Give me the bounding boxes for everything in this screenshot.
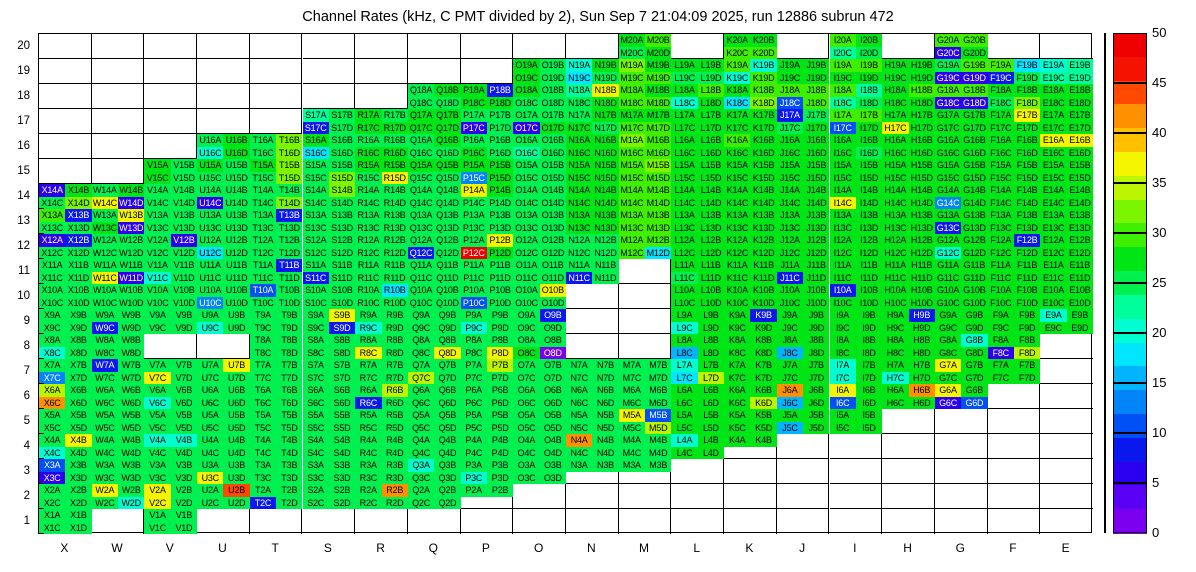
channel-subcell: T12A [250, 234, 276, 247]
heatmap-cell: U5AU5BU5CU5D [197, 409, 250, 434]
channel-subcell: L4B [698, 434, 724, 447]
heatmap-cell: J11AJ11BJ11CJ11D [777, 259, 830, 284]
channel-subcell: K6C [724, 397, 750, 410]
channel-subcell: G20C [935, 47, 961, 60]
heatmap-cell: N14AN14BN14CN14D [566, 184, 619, 209]
channel-subcell: M5B [645, 409, 671, 422]
channel-subcell: I18A [830, 84, 856, 97]
channel-subcell: K13A [724, 209, 750, 222]
heatmap-cell: Q12AQ12BQ12CQ12D [408, 234, 461, 259]
heatmap-cell: U12AU12BU12CU12D [197, 234, 250, 259]
heatmap-cell: L11AL11BL11CL11D [671, 259, 724, 284]
channel-subcell: R10B [382, 284, 408, 297]
channel-subcell: H7B [909, 359, 935, 372]
channel-subcell: O12A [513, 234, 539, 247]
channel-subcell: Q11C [408, 272, 434, 285]
channel-subcell: K9A [724, 309, 750, 322]
channel-subcell: V7A [144, 359, 170, 372]
heatmap-cell: T7AT7BT7CT7D [250, 359, 303, 384]
heatmap-cell [303, 59, 356, 84]
channel-subcell: E9C [1040, 322, 1066, 335]
channel-subcell: R6D [382, 397, 408, 410]
heatmap-cell: J17AJ17BJ17CJ17D [777, 109, 830, 134]
channel-subcell: I11C [830, 272, 856, 285]
heatmap-cell: F10AF10BF10CF10D [988, 284, 1041, 309]
channel-subcell: W11B [118, 259, 144, 272]
x-axis-tick-label: E [1039, 541, 1092, 555]
heatmap-cell: M5AM5BM5CM5D [619, 409, 672, 434]
channel-subcell: J17D [803, 122, 829, 135]
channel-subcell: R14B [382, 184, 408, 197]
channel-subcell: N11B [592, 259, 618, 272]
heatmap-cell: M19AM19BM19CM19D [619, 59, 672, 84]
channel-subcell: E16B [1067, 134, 1093, 147]
channel-subcell: S8A [303, 334, 329, 347]
channel-subcell: P16A [461, 134, 487, 147]
channel-subcell: P10D [487, 297, 513, 310]
channel-subcell: Q15C [408, 172, 434, 185]
channel-subcell: O4B [540, 434, 566, 447]
channel-subcell: I8D [856, 347, 882, 360]
channel-subcell: W9B [118, 309, 144, 322]
heatmap-cell: K16AK16BK16CK16D [724, 134, 777, 159]
channel-subcell: T10B [276, 284, 302, 297]
channel-subcell: G13C [935, 222, 961, 235]
channel-subcell: S10A [303, 284, 329, 297]
channel-subcell: Q14D [434, 197, 460, 210]
channel-subcell: P15D [487, 172, 513, 185]
channel-subcell: E13D [1067, 222, 1093, 235]
channel-subcell: J19D [803, 72, 829, 85]
channel-subcell: H19C [882, 72, 908, 85]
heatmap-cell [935, 434, 988, 459]
channel-subcell: V11C [144, 272, 170, 285]
channel-subcell: X7A [39, 359, 65, 372]
channel-subcell: K19A [724, 59, 750, 72]
channel-subcell: L6D [698, 397, 724, 410]
y-axis-tick-label: 17 [0, 115, 30, 127]
heatmap-cell [724, 459, 777, 484]
heatmap-cell: L15AL15BL15CL15D [671, 159, 724, 184]
channel-subcell: J10B [803, 284, 829, 297]
channel-subcell: P7B [487, 359, 513, 372]
channel-subcell: R15B [382, 159, 408, 172]
channel-subcell: Q13A [408, 209, 434, 222]
channel-subcell: E16D [1067, 147, 1093, 160]
channel-subcell: U13D [223, 222, 249, 235]
channel-subcell: G15B [961, 159, 987, 172]
heatmap-cell: Q16AQ16BQ16CQ16D [408, 134, 461, 159]
channel-subcell: M4D [645, 447, 671, 460]
heatmap-cell: F15AF15BF15CF15D [988, 159, 1041, 184]
channel-subcell: S8D [329, 347, 355, 360]
colorbar-tick-mark [1113, 232, 1147, 234]
y-axis-tick-label: 16 [0, 140, 30, 152]
channel-subcell: H14D [909, 197, 935, 210]
channel-subcell: F16D [1014, 147, 1040, 160]
heatmap-cell [197, 59, 250, 84]
channel-subcell: T8C [250, 347, 276, 360]
channel-subcell: K8B [750, 334, 776, 347]
channel-subcell: R9C [355, 322, 381, 335]
channel-subcell: O13B [540, 209, 566, 222]
channel-subcell: W12C [92, 247, 118, 260]
channel-subcell: H7C [882, 372, 908, 385]
y-axis-tick-label: 7 [0, 365, 30, 377]
channel-subcell: V6D [171, 397, 197, 410]
heatmap-cell [355, 84, 408, 109]
channel-subcell: P18B [487, 84, 513, 97]
channel-subcell: K10C [724, 297, 750, 310]
channel-subcell: L11C [671, 272, 697, 285]
heatmap-cell: O19AO19BO19CO19D [513, 59, 566, 84]
channel-subcell: Q5A [408, 409, 434, 422]
channel-subcell: K19C [724, 72, 750, 85]
channel-subcell: M12A [619, 234, 645, 247]
channel-subcell: V9C [144, 322, 170, 335]
channel-subcell: H6D [909, 397, 935, 410]
heatmap-cell: F7AF7BF7CF7D [988, 359, 1041, 384]
channel-subcell: O16C [513, 147, 539, 160]
channel-subcell: O5C [513, 422, 539, 435]
heatmap-cell: J16AJ16BJ16CJ16D [777, 134, 830, 159]
heatmap-cell: X12AX12BX12CX12D [39, 234, 92, 259]
channel-subcell: O18A [513, 84, 539, 97]
heatmap-grid: M20AM20BM20CM20DK20AK20BK20CK20DI20AI20B… [39, 34, 1091, 532]
channel-subcell: N6D [592, 397, 618, 410]
channel-subcell: G18D [961, 97, 987, 110]
channel-subcell: P13C [461, 222, 487, 235]
channel-subcell: G17C [935, 122, 961, 135]
channel-subcell: U15B [223, 159, 249, 172]
heatmap-cell [1040, 359, 1093, 384]
heatmap-cell: T4AT4BT4CT4D [250, 434, 303, 459]
channel-subcell: S6B [329, 384, 355, 397]
heatmap-cell: F18AF18BF18CF18D [988, 84, 1041, 109]
channel-subcell: U3A [197, 459, 223, 472]
heatmap-cell: V2AV2BV2CV2D [144, 484, 197, 509]
heatmap-cell: N3AN3B [566, 459, 619, 484]
channel-subcell: J7B [803, 359, 829, 372]
channel-subcell: J12A [777, 234, 803, 247]
heatmap-cell [619, 509, 672, 534]
channel-subcell: G8C [935, 347, 961, 360]
channel-subcell: O8C [513, 347, 539, 360]
channel-subcell: T6B [276, 384, 302, 397]
heatmap-cell: N11AN11BN11CN11D [566, 259, 619, 284]
channel-subcell: G13D [961, 222, 987, 235]
heatmap-cell: S16AS16BS16CS16D [303, 134, 356, 159]
channel-subcell: S13B [329, 209, 355, 222]
channel-subcell: Q3A [408, 459, 434, 472]
channel-subcell: M18D [645, 97, 671, 110]
heatmap-cell: Q4AQ4BQ4CQ4D [408, 434, 461, 459]
heatmap-cell: W6AW6BW6CW6D [92, 384, 145, 409]
channel-subcell: V13B [171, 209, 197, 222]
channel-subcell: K20A [724, 34, 750, 47]
channel-subcell: U2A [197, 484, 223, 497]
channel-subcell: V6C [144, 397, 170, 410]
channel-subcell: N14D [592, 197, 618, 210]
channel-subcell: P12D [487, 247, 513, 260]
colorbar-segment [1113, 509, 1147, 533]
channel-subcell: H18C [882, 97, 908, 110]
channel-subcell: P6B [487, 384, 513, 397]
channel-subcell: N19C [566, 72, 592, 85]
channel-subcell: K5B [750, 409, 776, 422]
channel-subcell: Q12C [408, 247, 434, 260]
channel-subcell: T10A [250, 284, 276, 297]
channel-subcell: Q11D [434, 272, 460, 285]
heatmap-cell: S5AS5BS5CS5D [303, 409, 356, 434]
channel-subcell: H15A [882, 159, 908, 172]
channel-subcell: S8B [329, 334, 355, 347]
channel-subcell: L7D [698, 372, 724, 385]
channel-subcell: E17A [1040, 109, 1066, 122]
channel-subcell: H10B [909, 284, 935, 297]
channel-subcell: G10A [935, 284, 961, 297]
channel-subcell: E16C [1040, 147, 1066, 160]
heatmap-cell [355, 34, 408, 59]
channel-subcell: G15D [961, 172, 987, 185]
channel-subcell: W5D [118, 422, 144, 435]
heatmap-cell [830, 459, 883, 484]
channel-subcell: E13B [1067, 209, 1093, 222]
channel-subcell: J5A [777, 409, 803, 422]
channel-subcell: O14B [540, 184, 566, 197]
x-axis-tick-label: U [196, 541, 249, 555]
heatmap-cell: F11AF11BF11CF11D [988, 259, 1041, 284]
channel-subcell: G9C [935, 322, 961, 335]
channel-subcell: O3C [513, 472, 539, 485]
channel-subcell: E9B [1067, 309, 1093, 322]
channel-subcell: J17A [777, 109, 803, 122]
channel-subcell: N17D [592, 122, 618, 135]
channel-subcell: O7C [513, 372, 539, 385]
y-axis-tick-label: 10 [0, 290, 30, 302]
heatmap-cell: M15AM15BM15CM15D [619, 159, 672, 184]
channel-subcell: Q9B [434, 309, 460, 322]
y-axis-tick-label: 13 [0, 215, 30, 227]
channel-subcell: N11A [566, 259, 592, 272]
channel-subcell: P3D [487, 472, 513, 485]
channel-subcell: N14B [592, 184, 618, 197]
colorbar-segment [1113, 438, 1147, 462]
channel-subcell: N5D [592, 422, 618, 435]
channel-subcell: M16C [619, 147, 645, 160]
channel-subcell: M14C [619, 197, 645, 210]
channel-subcell: U5B [223, 409, 249, 422]
heatmap-cell [250, 84, 303, 109]
channel-subcell: S7B [329, 359, 355, 372]
heatmap-cell: M18AM18BM18CM18D [619, 84, 672, 109]
heatmap-cell: I17AI17BI17CI17D [830, 109, 883, 134]
heatmap-cell [513, 484, 566, 509]
heatmap-cell: U13AU13BU13CU13D [197, 209, 250, 234]
channel-subcell: V12B [171, 234, 197, 247]
channel-subcell: U3C [197, 472, 223, 485]
channel-subcell: H17B [909, 109, 935, 122]
channel-subcell: O8A [513, 334, 539, 347]
heatmap-cell: H10AH10BH10CH10D [882, 284, 935, 309]
heatmap-cell: E14AE14BE14CE14D [1040, 184, 1093, 209]
heatmap-cell [619, 284, 672, 309]
channel-subcell: W4D [118, 447, 144, 460]
channel-subcell: I10D [856, 297, 882, 310]
heatmap-cell [92, 59, 145, 84]
heatmap-cell: N15AN15BN15CN15D [566, 159, 619, 184]
heatmap-cell: N5AN5BN5CN5D [566, 409, 619, 434]
channel-subcell: H16B [909, 134, 935, 147]
heatmap-cell: R9AR9BR9CR9D [355, 309, 408, 334]
channel-subcell: J10D [803, 297, 829, 310]
heatmap-cell: O11AO11BO11CO11D [513, 259, 566, 284]
heatmap-cell [39, 84, 92, 109]
channel-subcell: Q10C [408, 297, 434, 310]
channel-subcell: X14A [39, 184, 65, 197]
channel-subcell: K7C [724, 372, 750, 385]
channel-subcell: W12B [118, 234, 144, 247]
channel-subcell: P5A [461, 409, 487, 422]
channel-subcell: I14D [856, 197, 882, 210]
channel-subcell: J10A [777, 284, 803, 297]
channel-subcell: I20A [830, 34, 856, 47]
channel-subcell: V5B [171, 409, 197, 422]
channel-subcell: Q7B [434, 359, 460, 372]
channel-subcell: I11A [830, 259, 856, 272]
channel-subcell: L9B [698, 309, 724, 322]
heatmap-cell: W12AW12BW12CW12D [92, 234, 145, 259]
channel-subcell: Q9D [434, 322, 460, 335]
channel-subcell: M20D [645, 47, 671, 60]
channel-subcell: L16B [698, 134, 724, 147]
channel-subcell: W3A [92, 459, 118, 472]
channel-subcell: W7C [92, 372, 118, 385]
channel-subcell: Q6C [408, 397, 434, 410]
channel-subcell: K17A [724, 109, 750, 122]
channel-subcell: U2D [223, 497, 249, 510]
channel-subcell: S11A [303, 259, 329, 272]
channel-subcell: U12A [197, 234, 223, 247]
channel-subcell: S15D [329, 172, 355, 185]
channel-subcell: O4A [513, 434, 539, 447]
channel-subcell: W6D [118, 397, 144, 410]
channel-subcell: F12D [1014, 247, 1040, 260]
channel-subcell: T9A [250, 309, 276, 322]
channel-subcell: H18D [909, 97, 935, 110]
heatmap-cell: I19AI19BI19CI19D [830, 59, 883, 84]
channel-subcell: R5D [382, 422, 408, 435]
channel-subcell: J11B [803, 259, 829, 272]
channel-subcell: M19D [645, 72, 671, 85]
channel-subcell: X3A [39, 459, 65, 472]
channel-subcell: O19A [513, 59, 539, 72]
colorbar-tick-mark [1113, 482, 1147, 484]
channel-subcell: I17A [830, 109, 856, 122]
channel-subcell: R3D [382, 472, 408, 485]
channel-subcell: T16C [250, 147, 276, 160]
channel-subcell: G18A [935, 84, 961, 97]
channel-subcell: S7A [303, 359, 329, 372]
heatmap-cell: V10AV10BV10CV10D [144, 284, 197, 309]
channel-subcell: X9B [65, 309, 91, 322]
channel-subcell: K5D [750, 422, 776, 435]
channel-subcell: O18B [540, 84, 566, 97]
channel-subcell: O10B [540, 284, 566, 297]
heatmap-cell [988, 484, 1041, 509]
channel-subcell: Q4C [408, 447, 434, 460]
channel-subcell: O3D [540, 472, 566, 485]
channel-subcell: P4D [487, 447, 513, 460]
channel-subcell: O5B [540, 409, 566, 422]
heatmap-cell: E19AE19BE19CE19D [1040, 59, 1093, 84]
channel-subcell: X8D [65, 347, 91, 360]
channel-subcell: V10B [171, 284, 197, 297]
channel-subcell: P12B [487, 234, 513, 247]
y-axis-tick-label: 11 [0, 265, 30, 277]
channel-subcell: T12D [276, 247, 302, 260]
heatmap-cell: E17AE17BE17CE17D [1040, 109, 1093, 134]
channel-subcell: G19C [935, 72, 961, 85]
channel-subcell: K11A [724, 259, 750, 272]
channel-subcell: O14A [513, 184, 539, 197]
channel-subcell: P17B [487, 109, 513, 122]
channel-subcell: T15D [276, 172, 302, 185]
heatmap-cell: F12AF12BF12CF12D [988, 234, 1041, 259]
channel-subcell: I13C [830, 222, 856, 235]
heatmap-cell: J18AJ18BJ18CJ18D [777, 84, 830, 109]
heatmap-cell [777, 34, 830, 59]
channel-subcell: O9D [540, 322, 566, 335]
channel-subcell: V4D [171, 447, 197, 460]
channel-subcell: O8D [540, 347, 566, 360]
channel-subcell: J13C [777, 222, 803, 235]
channel-subcell: O14C [513, 197, 539, 210]
heatmap-cell: V9AV9BV9CV9D [144, 309, 197, 334]
channel-subcell: P9D [487, 322, 513, 335]
heatmap-cell: K5AK5BK5CK5D [724, 409, 777, 434]
channel-subcell: W14B [118, 184, 144, 197]
channel-subcell: F11A [988, 259, 1014, 272]
channel-subcell: T15C [250, 172, 276, 185]
heatmap-cell: K6AK6BK6CK6D [724, 384, 777, 409]
heatmap-cell: F9AF9BF9CF9D [988, 309, 1041, 334]
heatmap-cell: L6AL6BL6CL6D [671, 384, 724, 409]
channel-subcell: F19D [1014, 72, 1040, 85]
channel-subcell: E14C [1040, 197, 1066, 210]
channel-subcell: T12C [250, 247, 276, 260]
channel-subcell: L9A [671, 309, 697, 322]
channel-subcell: H14C [882, 197, 908, 210]
channel-subcell: X12A [39, 234, 65, 247]
channel-subcell: Q15A [408, 159, 434, 172]
colorbar-tick-label: 40 [1152, 126, 1166, 139]
heatmap-cell: X9AX9BX9CX9D [39, 309, 92, 334]
heatmap-cell: S17AS17BS17CS17D [303, 109, 356, 134]
channel-subcell: U12C [197, 247, 223, 260]
heatmap-cell [566, 34, 619, 59]
channel-subcell: X4B [65, 434, 91, 447]
channel-subcell: X11D [65, 272, 91, 285]
channel-subcell: Q15B [434, 159, 460, 172]
channel-subcell: G10C [935, 297, 961, 310]
channel-subcell: O16B [540, 134, 566, 147]
colorbar-segment [1113, 485, 1147, 509]
heatmap-cell: F19AF19BF19CF19D [988, 59, 1041, 84]
channel-subcell: F19A [988, 59, 1014, 72]
channel-subcell: F11C [988, 272, 1014, 285]
heatmap-cell [250, 509, 303, 534]
